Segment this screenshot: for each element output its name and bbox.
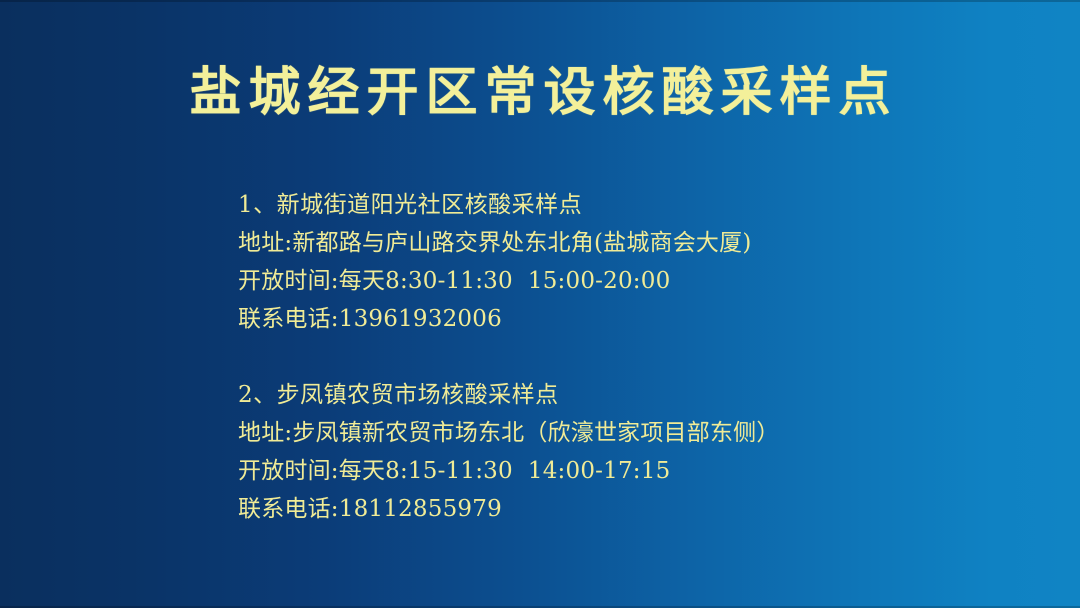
site-heading: 2、步凤镇农贸市场核酸采样点 [238, 376, 1038, 414]
site-phone: 联系电话:13961932006 [238, 300, 1038, 338]
site-hours: 开放时间:每天8:30-11:30 15:00-20:00 [238, 262, 1038, 300]
site-heading: 1、新城街道阳光社区核酸采样点 [238, 186, 1038, 224]
site-address: 地址:步凤镇新农贸市场东北（欣濠世家项目部东侧） [238, 414, 1038, 452]
site-hours: 开放时间:每天8:15-11:30 14:00-17:15 [238, 452, 1038, 490]
list-item: 2、步凤镇农贸市场核酸采样点 地址:步凤镇新农贸市场东北（欣濠世家项目部东侧） … [238, 376, 1038, 528]
page-title: 盐城经开区常设核酸采样点 [0, 62, 1080, 124]
poster-canvas: 盐城经开区常设核酸采样点 1、新城街道阳光社区核酸采样点 地址:新都路与庐山路交… [0, 0, 1080, 608]
site-address: 地址:新都路与庐山路交界处东北角(盐城商会大厦) [238, 224, 1038, 262]
sampling-site-list: 1、新城街道阳光社区核酸采样点 地址:新都路与庐山路交界处东北角(盐城商会大厦)… [238, 186, 1038, 528]
list-item: 1、新城街道阳光社区核酸采样点 地址:新都路与庐山路交界处东北角(盐城商会大厦)… [238, 186, 1038, 338]
site-phone: 联系电话:18112855979 [238, 490, 1038, 528]
